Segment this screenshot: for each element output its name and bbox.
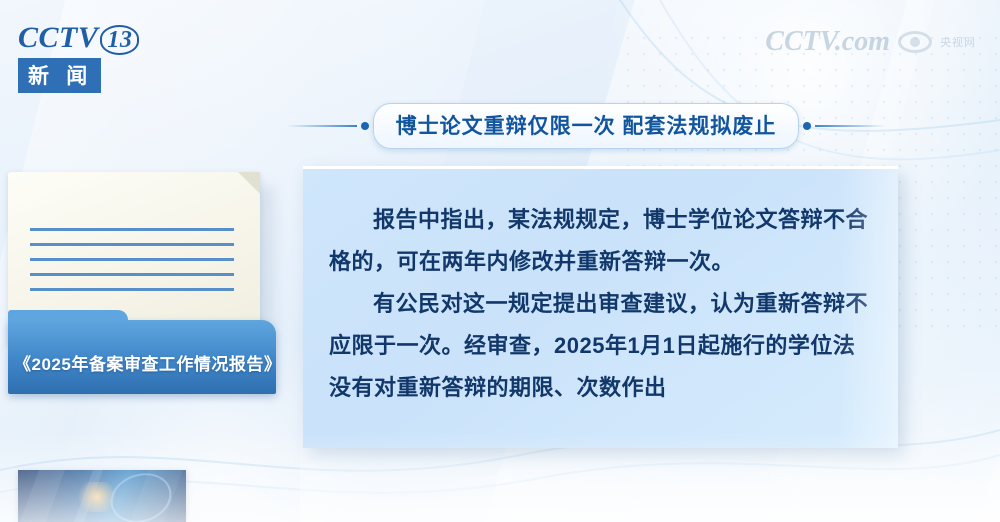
document-text-lines bbox=[30, 228, 234, 303]
report-document-graphic: 《2025年备案审查工作情况报告》 bbox=[8, 172, 276, 394]
headline-dot-right bbox=[803, 122, 811, 130]
headline-rule-left bbox=[286, 125, 357, 127]
headline-bar: 博士论文重辩仅限一次 配套法规拟废止 bbox=[286, 108, 886, 144]
headline-title: 博士论文重辩仅限一次 配套法规拟废止 bbox=[373, 103, 800, 149]
cctv-wordmark: CCTV bbox=[18, 21, 98, 54]
content-paragraph-1: 报告中指出，某法规规定，博士学位论文答辩不合格的，可在两年内修改并重新答辩一次。 bbox=[329, 199, 872, 283]
broadcast-screen: CCTV13 新 闻 CCTV.com 央视网 博士论文重辩仅限一次 配套法规拟… bbox=[0, 0, 1000, 522]
cctv-com-watermark: CCTV.com 央视网 bbox=[765, 26, 976, 58]
watermark-cn-text: 央视网 bbox=[940, 34, 976, 50]
channel-number: 13 bbox=[100, 25, 139, 55]
channel-name-badge: 新 闻 bbox=[18, 58, 101, 93]
report-title-label: 《2025年备案审查工作情况报告》 bbox=[14, 350, 304, 375]
cctv13-logo: CCTV13 新 闻 bbox=[18, 22, 168, 84]
page-fold-icon bbox=[238, 172, 260, 194]
content-paragraph-2: 有公民对这一规定提出审查建议，认为重新答辩不应限于一次。经审查，2025年1月1… bbox=[329, 283, 872, 409]
headline-rule-right bbox=[815, 125, 886, 127]
broadcast-preview-thumbnail bbox=[18, 470, 186, 522]
watermark-text: CCTV.com bbox=[765, 26, 890, 58]
cctv-eye-icon bbox=[898, 31, 932, 53]
content-card: 报告中指出，某法规规定，博士学位论文答辩不合格的，可在两年内修改并重新答辩一次。… bbox=[303, 166, 898, 448]
content-body: 报告中指出，某法规规定，博士学位论文答辩不合格的，可在两年内修改并重新答辩一次。… bbox=[303, 169, 898, 409]
headline-dot-left bbox=[361, 122, 369, 130]
cctv-logo-text: CCTV13 bbox=[18, 22, 168, 55]
